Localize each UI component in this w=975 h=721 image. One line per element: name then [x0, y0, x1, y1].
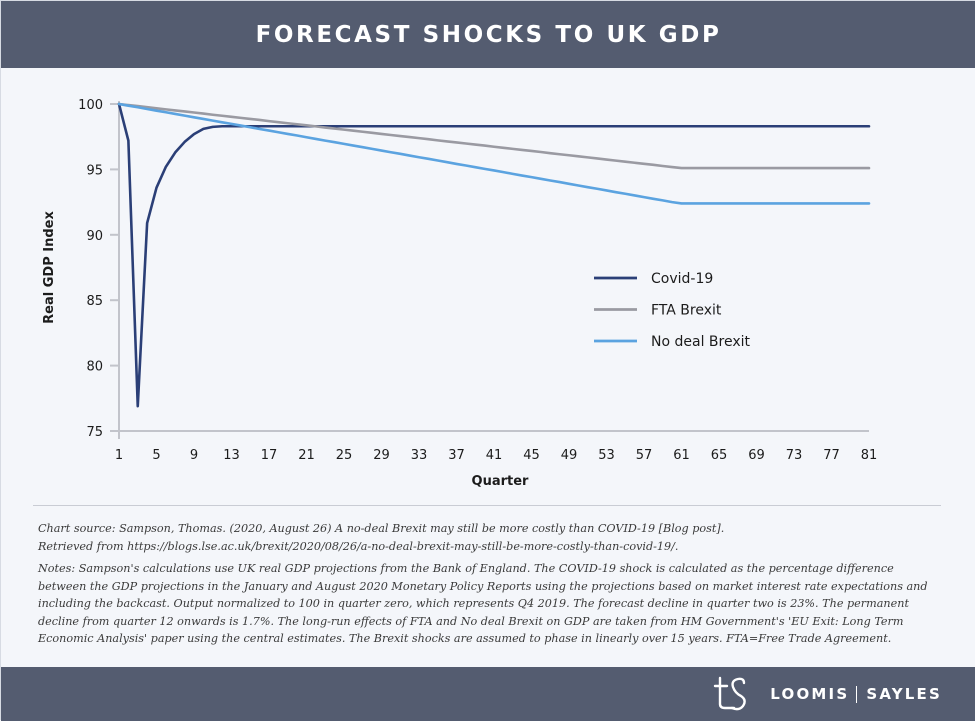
- series-line-fta-brexit: [119, 104, 869, 168]
- x-axis-title: Quarter: [472, 474, 530, 489]
- x-tick-label: 45: [523, 448, 540, 463]
- brand-separator: [856, 686, 857, 703]
- header-bar: FORECAST SHOCKS TO UK GDP: [1, 1, 975, 68]
- brand-name-first: LOOMIS: [770, 685, 849, 703]
- y-tick-label: 95: [86, 163, 103, 178]
- y-axis-ticks: 7580859095100: [78, 98, 119, 440]
- chart-notes-text: Notes: Sampson's calculations use UK rea…: [38, 560, 938, 648]
- x-tick-label: 13: [223, 448, 240, 463]
- x-tick-label: 25: [336, 448, 353, 463]
- x-tick-label: 77: [823, 448, 840, 463]
- chart-notes-block: Notes: Sampson's calculations use UK rea…: [38, 560, 938, 648]
- footnotes-region: Chart source: Sampson, Thomas. (2020, Au…: [1, 505, 975, 667]
- x-tick-label: 29: [373, 448, 390, 463]
- x-tick-label: 81: [861, 448, 878, 463]
- x-tick-label: 69: [748, 448, 765, 463]
- x-tick-label: 53: [598, 448, 615, 463]
- x-tick-label: 57: [636, 448, 653, 463]
- legend-label-2: No deal Brexit: [651, 334, 751, 350]
- legend-label-1: FTA Brexit: [651, 303, 722, 319]
- x-tick-label: 17: [261, 448, 278, 463]
- x-tick-label: 33: [411, 448, 428, 463]
- y-tick-label: 100: [78, 98, 103, 113]
- chart-source-line-1: Chart source: Sampson, Thomas. (2020, Au…: [38, 520, 943, 538]
- y-tick-label: 85: [86, 294, 103, 309]
- x-tick-label: 5: [152, 448, 160, 463]
- y-tick-label: 75: [86, 425, 103, 440]
- footer-bar: LOOMIS SAYLES: [1, 667, 975, 721]
- x-tick-label: 61: [673, 448, 690, 463]
- brand-text: LOOMIS SAYLES: [770, 685, 942, 703]
- legend-label-0: Covid-19: [651, 271, 713, 287]
- chart-container: 7580859095100 15913172125293337414549535…: [1, 68, 975, 505]
- x-tick-label: 49: [561, 448, 578, 463]
- notes-divider: [33, 505, 941, 506]
- page-title: FORECAST SHOCKS TO UK GDP: [256, 22, 722, 48]
- series-lines: [119, 104, 869, 406]
- chart-source-line-2: Retrieved from https://blogs.lse.ac.uk/b…: [38, 538, 943, 556]
- y-tick-label: 90: [86, 229, 103, 244]
- ls-monogram-icon: [712, 674, 754, 714]
- line-chart: 7580859095100 15913172125293337414549535…: [1, 68, 975, 505]
- x-tick-label: 9: [190, 448, 198, 463]
- series-line-no-deal-brexit: [119, 104, 869, 203]
- x-tick-label: 65: [711, 448, 728, 463]
- y-axis-title: Real GDP Index: [42, 211, 57, 324]
- x-tick-label: 37: [448, 448, 465, 463]
- chart-legend: Covid-19FTA BrexitNo deal Brexit: [594, 271, 751, 350]
- brand-lockup: LOOMIS SAYLES: [712, 674, 942, 714]
- x-tick-label: 21: [298, 448, 315, 463]
- y-tick-label: 80: [86, 360, 103, 375]
- x-tick-label: 73: [786, 448, 803, 463]
- chart-page: FORECAST SHOCKS TO UK GDP 7580859095100 …: [0, 0, 975, 720]
- x-tick-label: 1: [115, 448, 123, 463]
- x-tick-label: 41: [486, 448, 503, 463]
- x-axis-ticks: 159131721252933374145495357616569737781: [115, 431, 877, 463]
- brand-name-second: SAYLES: [866, 685, 942, 703]
- series-line-covid-19: [119, 104, 869, 406]
- chart-source-block: Chart source: Sampson, Thomas. (2020, Au…: [38, 520, 943, 555]
